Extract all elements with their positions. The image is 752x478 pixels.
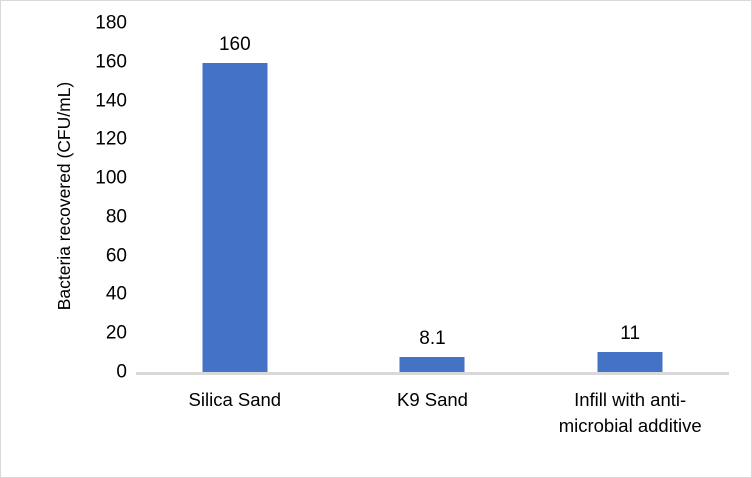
y-axis-tick-label: 0 xyxy=(63,363,127,382)
bar xyxy=(202,63,267,373)
bar-group: 160 xyxy=(136,23,334,373)
category-label-line: microbial additive xyxy=(531,413,729,439)
bar-value-label: 160 xyxy=(219,35,251,54)
y-axis-tick-label: 160 xyxy=(63,52,127,71)
plot-area: 1608.111 xyxy=(136,23,729,373)
bar xyxy=(400,357,465,373)
y-axis-tick-label: 100 xyxy=(63,169,127,188)
category-label-line: Silica Sand xyxy=(136,387,334,413)
category-label-line: Infill with anti- xyxy=(531,387,729,413)
bar-chart: Bacteria recovered (CFU/mL) 180160140120… xyxy=(0,0,752,478)
x-axis-category-label: Silica Sand xyxy=(136,387,334,413)
bar-group: 8.1 xyxy=(334,23,532,373)
y-axis-tick-label: 140 xyxy=(63,91,127,110)
y-axis-tick-label: 60 xyxy=(63,246,127,265)
x-axis-category-labels: Silica SandK9 SandInfill with anti-micro… xyxy=(136,387,729,467)
y-axis-tick-label: 20 xyxy=(63,324,127,343)
bar-value-label: 11 xyxy=(620,324,640,343)
y-axis-tick-label: 80 xyxy=(63,207,127,226)
x-axis-category-label: Infill with anti-microbial additive xyxy=(531,387,729,439)
y-axis-tick-label: 180 xyxy=(63,14,127,33)
y-axis-tick-label: 120 xyxy=(63,130,127,149)
bar xyxy=(598,352,663,373)
bar-group: 11 xyxy=(531,23,729,373)
x-axis-category-label: K9 Sand xyxy=(334,387,532,413)
category-label-line: K9 Sand xyxy=(334,387,532,413)
y-axis-tick-labels: 180160140120100806040200 xyxy=(63,1,127,478)
y-axis-tick-label: 40 xyxy=(63,285,127,304)
bar-value-label: 8.1 xyxy=(419,329,445,348)
x-axis-line xyxy=(136,372,729,375)
